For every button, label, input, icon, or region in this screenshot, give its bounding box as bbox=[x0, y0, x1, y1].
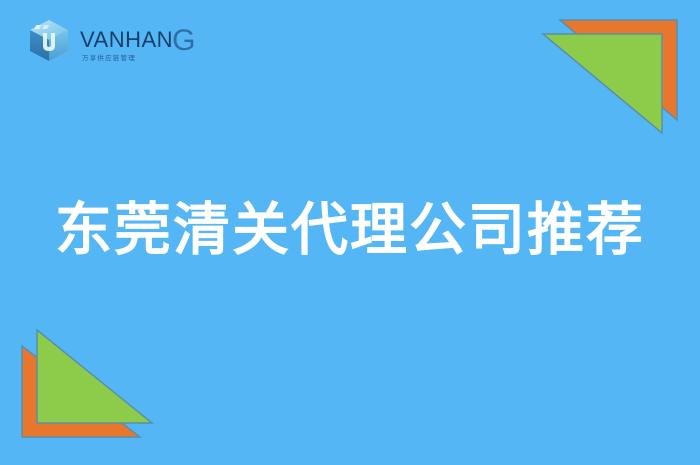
brand-wordmark-text: VANHAN bbox=[80, 29, 173, 51]
poster-canvas: VANHANG 万享供应链管理 东莞清关代理公司推荐 bbox=[0, 0, 700, 465]
brand-wordmark: VANHANG 万享供应链管理 bbox=[80, 21, 196, 62]
green-triangle-bottom-left bbox=[37, 330, 152, 423]
brand-wordmark-main: VANHANG bbox=[80, 23, 196, 53]
cube-logo-icon bbox=[24, 16, 74, 66]
page-title: 东莞清关代理公司推荐 bbox=[0, 198, 700, 264]
brand-logo-lockup: VANHANG 万享供应链管理 bbox=[24, 16, 196, 66]
green-triangle-top-right bbox=[543, 34, 662, 133]
orange-triangle-bottom-left bbox=[22, 346, 140, 437]
bottom-left-triangle-pair bbox=[0, 315, 180, 465]
orange-triangle-top-right bbox=[560, 20, 677, 120]
brand-wordmark-accent-letter: G bbox=[172, 26, 196, 56]
top-right-triangle-pair bbox=[520, 0, 700, 150]
